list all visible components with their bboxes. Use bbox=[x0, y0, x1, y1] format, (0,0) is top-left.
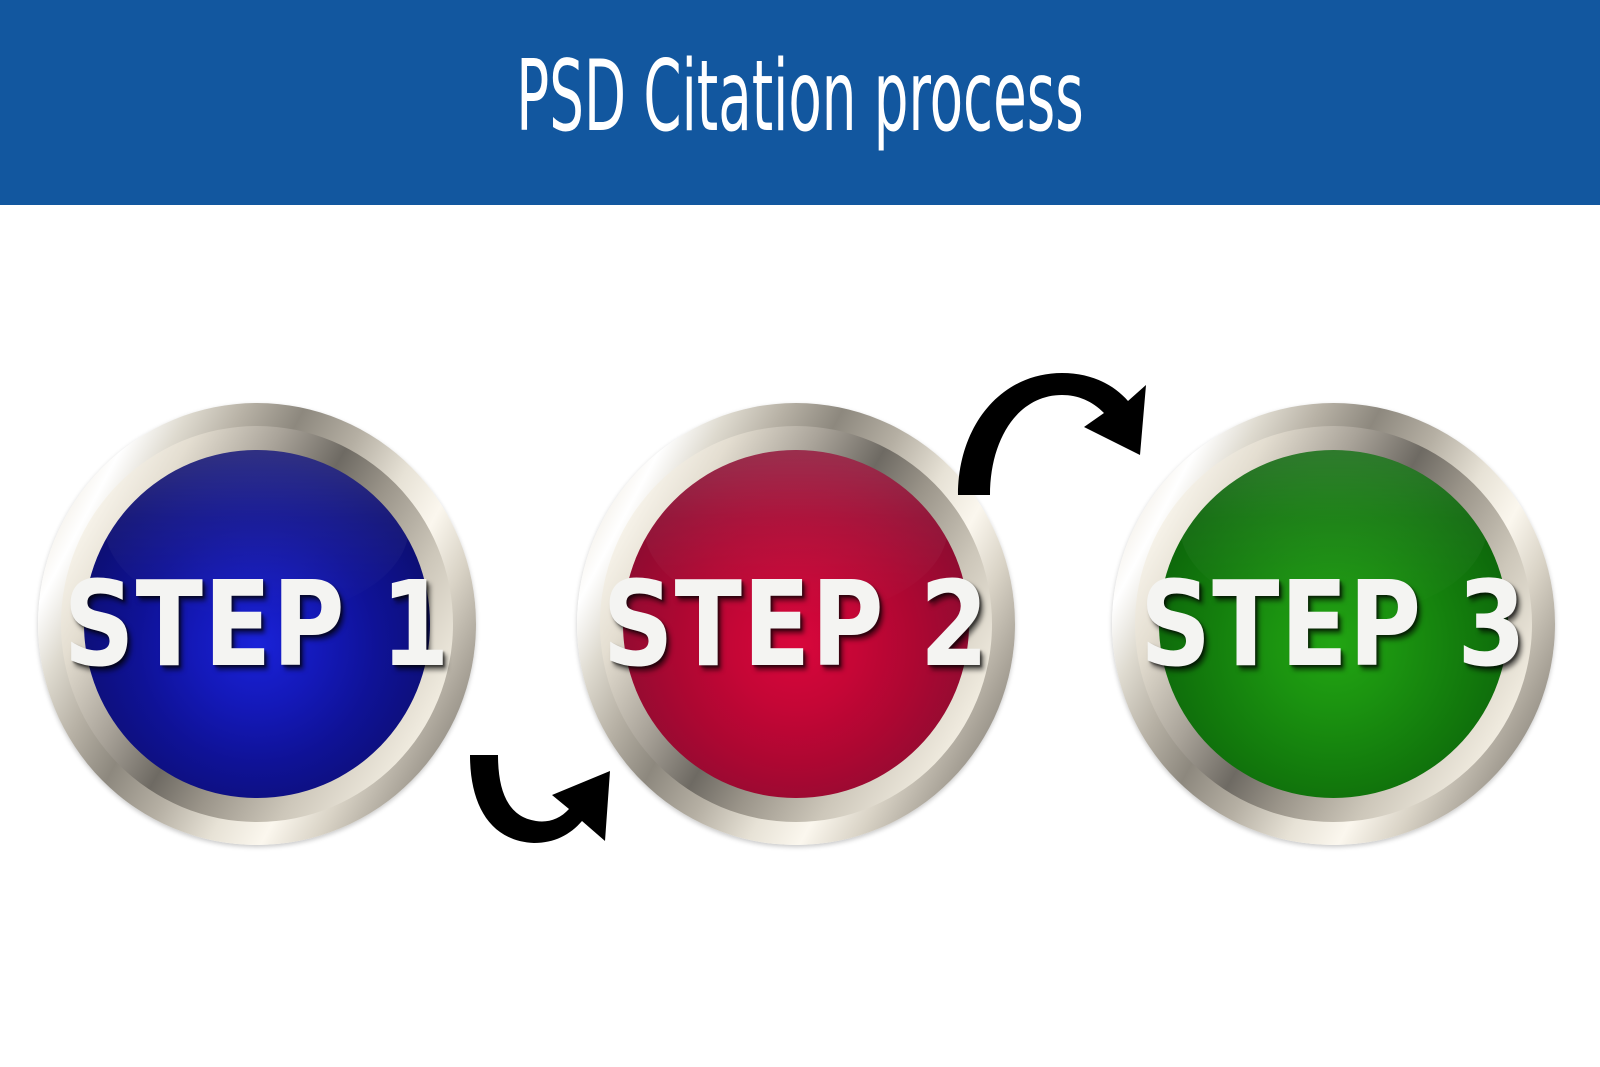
step-3-label: STEP 3 bbox=[1128, 403, 1540, 845]
diagram-canvas: STEP 1 STEP 2 STEP 3 bbox=[0, 205, 1600, 1067]
step-2-label: STEP 2 bbox=[592, 403, 999, 845]
step-button-3[interactable]: STEP 3 bbox=[1112, 403, 1555, 845]
step-1-label: STEP 1 bbox=[53, 403, 460, 845]
step-button-2[interactable]: STEP 2 bbox=[577, 403, 1015, 845]
page-title: PSD Citation process bbox=[304, 0, 1296, 205]
header-banner: PSD Citation process bbox=[0, 0, 1600, 205]
step-button-1[interactable]: STEP 1 bbox=[38, 403, 476, 845]
